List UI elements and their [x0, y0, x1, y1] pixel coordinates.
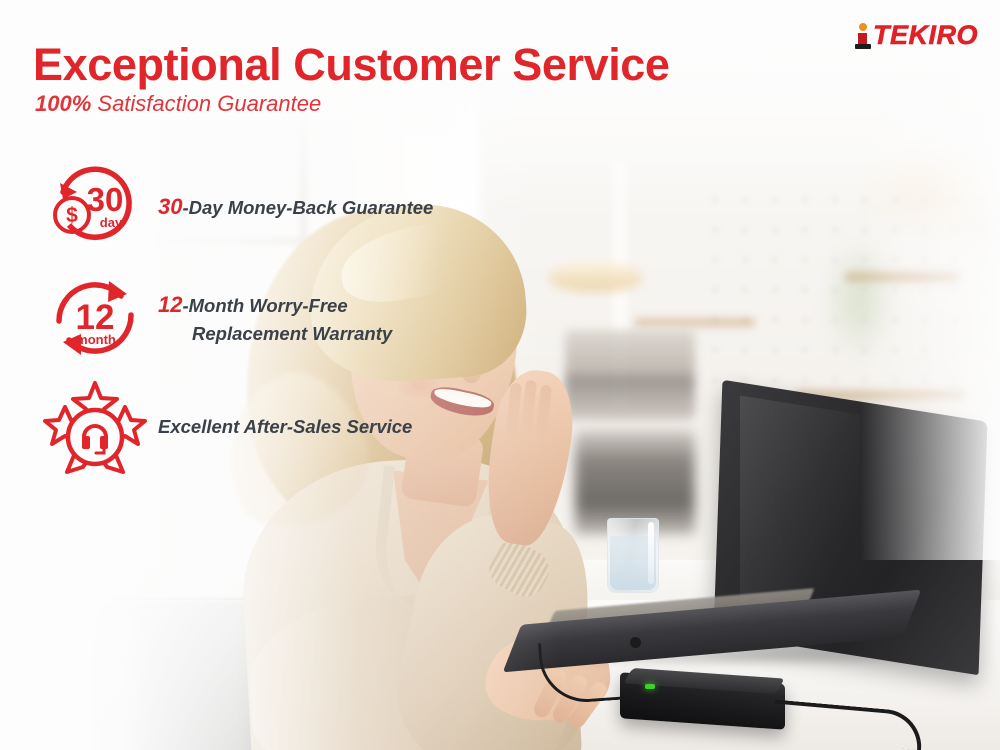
feature-icon-slot: 12 month	[36, 267, 154, 367]
svg-text:$: $	[66, 204, 78, 227]
svg-text:month: month	[76, 332, 116, 347]
banner-content: TEKIRO Exceptional Customer Service 100%…	[0, 0, 1000, 750]
svg-text:day: day	[100, 215, 123, 230]
feature-number-12: 12	[158, 292, 182, 317]
feature-icon-slot	[36, 377, 154, 477]
feature-text-money-back: 30-Day Money-Back Guarantee	[158, 191, 433, 223]
svg-text:30: 30	[87, 181, 124, 218]
satisfaction-percent: 100%	[35, 91, 91, 116]
feature-item-money-back: $ 30 day 30-Day Money-Back Guarantee	[36, 152, 506, 262]
feature-label-after-sales: Excellent After-Sales Service	[158, 416, 412, 437]
page-title: Exceptional Customer Service	[33, 42, 670, 87]
feature-number-30: 30	[158, 194, 182, 219]
brand-logo[interactable]: TEKIRO	[855, 22, 978, 49]
feature-item-warranty: 12 month 12-Month Worry-Free Replacement…	[36, 262, 506, 372]
brand-logo-text: TEKIRO	[873, 22, 978, 49]
promo-banner: TEKIRO Exceptional Customer Service 100%…	[0, 0, 1000, 750]
itekiro-i-mark-icon	[855, 23, 871, 49]
feature-icon-slot: $ 30 day	[36, 159, 154, 255]
feature-label-warranty-line1: -Month Worry-Free	[182, 295, 347, 316]
satisfaction-text: Satisfaction Guarantee	[91, 91, 321, 116]
feature-label-warranty-line2: Replacement Warranty	[158, 321, 392, 348]
award-rosette-headset-stars-icon	[41, 377, 149, 477]
feature-text-warranty: 12-Month Worry-Free Replacement Warranty	[158, 289, 392, 348]
12-month-replacement-cycle-arrows-icon: 12 month	[43, 267, 147, 367]
feature-item-after-sales: Excellent After-Sales Service	[36, 372, 506, 482]
page-subtitle: 100% Satisfaction Guarantee	[35, 93, 321, 115]
feature-text-after-sales: Excellent After-Sales Service	[158, 414, 412, 441]
30-day-money-back-circular-arrow-icon: $ 30 day	[43, 159, 147, 255]
feature-list: $ 30 day 30-Day Money-Back Guarantee	[36, 152, 506, 482]
feature-label-money-back: -Day Money-Back Guarantee	[182, 197, 433, 218]
